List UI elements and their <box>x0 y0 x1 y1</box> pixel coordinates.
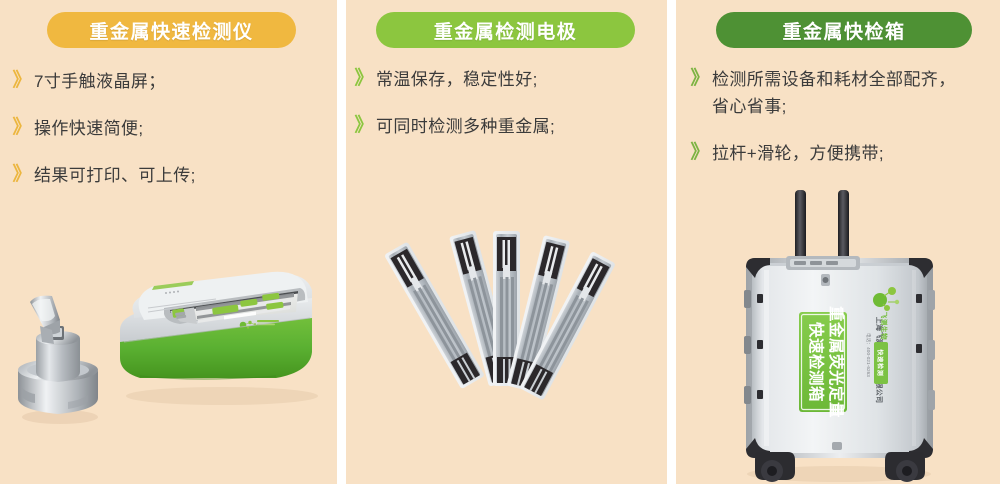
list-item-label: 可同时检测多种重金属; <box>376 113 555 140</box>
suitcase-image: 重金属荧光定量 快速检测箱 上海飞测生物科技有限公司 电话：400-021-62… <box>704 190 974 484</box>
case-contact-text: 电话：400-021-6263 <box>865 333 872 377</box>
chevron-right-icon: 》 <box>10 115 34 141</box>
list-item: 》 拉杆+滑轮，方便携带; <box>676 140 1000 167</box>
list-item-label: 操作快速简便; <box>34 115 144 142</box>
list-item: 》 可同时检测多种重金属; <box>346 113 667 140</box>
list-item: 》 检测所需设备和耗材全部配齐，省心省事; <box>676 66 1000 120</box>
list-item: 》 7寸手触液晶屏； <box>0 68 337 95</box>
chevron-right-icon: 》 <box>10 162 34 188</box>
list-item-label: 检测所需设备和耗材全部配齐，省心省事; <box>712 66 972 120</box>
list-item-label: 拉杆+滑轮，方便携带; <box>712 140 884 167</box>
case-label-line-2: 快速检测箱 <box>807 322 826 402</box>
chevron-right-icon: 》 <box>352 66 376 92</box>
panel-electrode: 重金属检测电极 》 常温保存，稳定性好; 》 可同时检测多种重金属; <box>346 0 667 484</box>
svg-text:快速检测: 快速检测 <box>876 348 884 376</box>
chevron-right-icon: 》 <box>688 140 712 166</box>
panel-divider <box>337 0 346 484</box>
list-item-label: 7寸手触液晶屏； <box>34 68 166 95</box>
list-item-label: 常温保存，稳定性好; <box>376 66 538 93</box>
list-item: 》 常温保存，稳定性好; <box>346 66 667 93</box>
bullet-list-instrument: 》 7寸手触液晶屏； 》 操作快速简便; 》 结果可打印、可上传; <box>0 68 337 209</box>
wheel-right <box>885 452 925 482</box>
wheel-left <box>755 452 795 482</box>
list-item: 》 结果可打印、可上传; <box>0 162 337 189</box>
chevron-right-icon: 》 <box>688 66 712 92</box>
case-label-line-1: 重金属荧光定量 <box>827 306 846 418</box>
list-item: 》 操作快速简便; <box>0 115 337 142</box>
case-brand-text: 飞测生物 <box>880 312 889 340</box>
panel-instrument: 重金属快速检测仪 》 7寸手触液晶屏； 》 操作快速简便; 》 结果可打印、可上… <box>0 0 337 484</box>
badge-electrode: 重金属检测电极 <box>376 12 635 48</box>
list-item-label: 结果可打印、可上传; <box>34 162 196 189</box>
product-feature-banner: 重金属快速检测仪 》 7寸手触液晶屏； 》 操作快速简便; 》 结果可打印、可上… <box>0 0 1000 484</box>
analyser-device-image <box>100 268 330 408</box>
badge-instrument: 重金属快速检测仪 <box>47 12 296 48</box>
electrode-strips-image <box>354 225 659 415</box>
panel-case: 重金属快检箱 》 检测所需设备和耗材全部配齐，省心省事; 》 拉杆+滑轮，方便携… <box>676 0 1000 484</box>
probe-device-image <box>8 286 108 426</box>
bullet-list-case: 》 检测所需设备和耗材全部配齐，省心省事; 》 拉杆+滑轮，方便携带; <box>676 66 1000 187</box>
bullet-list-electrode: 》 常温保存，稳定性好; 》 可同时检测多种重金属; <box>346 66 667 160</box>
chevron-right-icon: 》 <box>352 113 376 139</box>
chevron-right-icon: 》 <box>10 68 34 94</box>
panel-divider <box>667 0 676 484</box>
badge-case: 重金属快检箱 <box>716 12 972 48</box>
